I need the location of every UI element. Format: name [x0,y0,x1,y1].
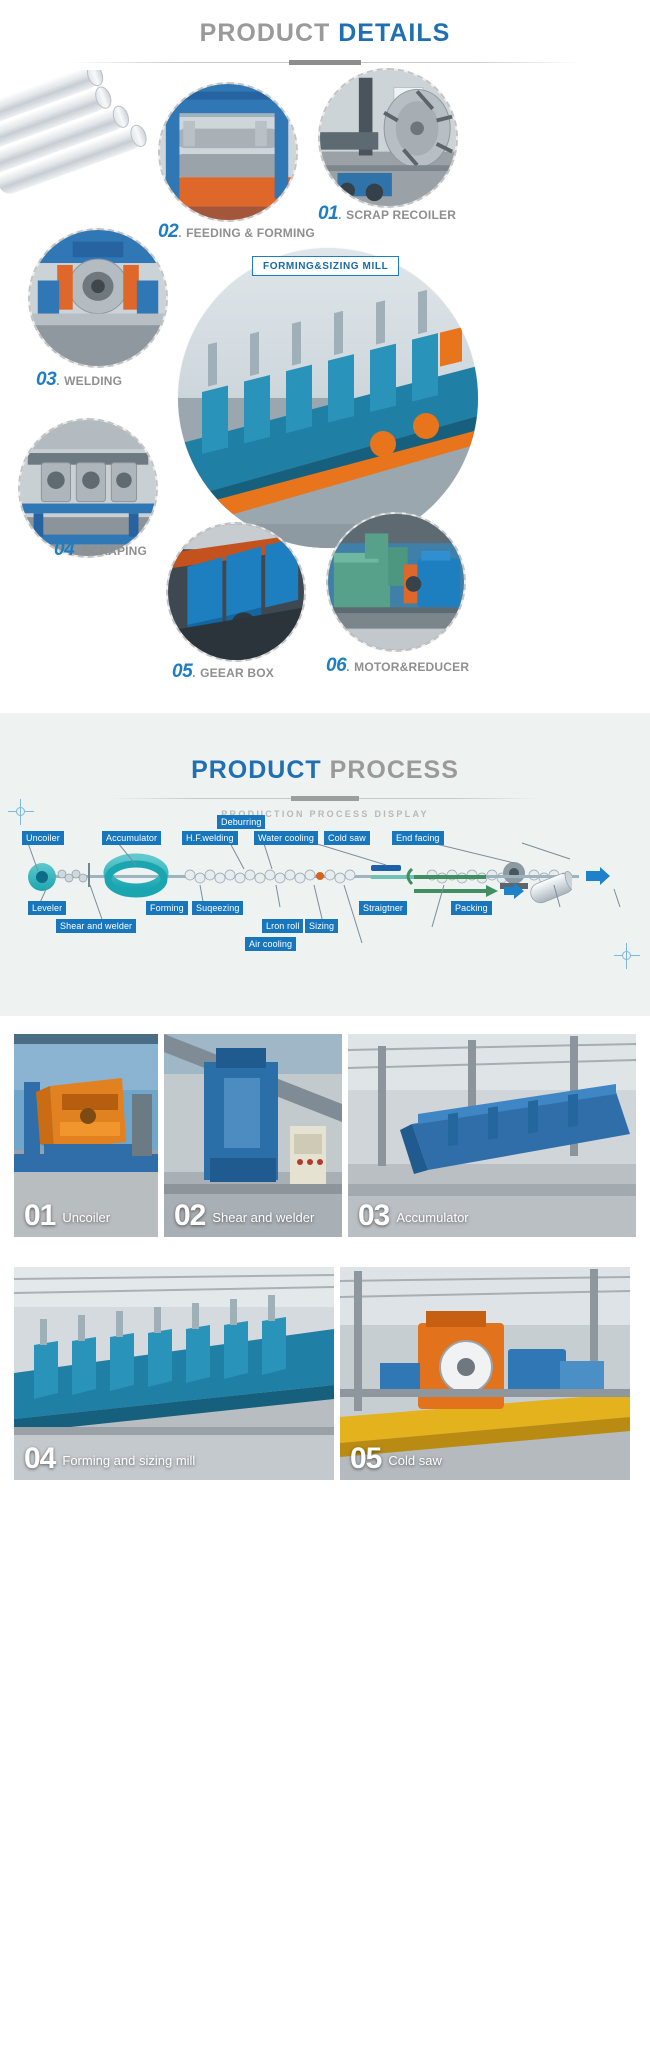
gallery-text-04: Forming and sizing mill [62,1452,195,1472]
detail-number-03: 03 [36,369,56,390]
detail-label-06: 06. MOTOR&REDUCER [326,656,469,675]
detail-number-01: 01 [318,203,338,224]
detail-dot-03: . [56,374,60,388]
flow-tag-accumulator[interactable]: Accumulator [102,831,161,845]
page-title: PRODUCT DETAILS [0,16,650,50]
process-title-word-product: PRODUCT [191,756,322,784]
detail-photo-06-motor-reducer[interactable] [326,512,466,652]
flow-tag-suqeezing[interactable]: Suqeezing [192,901,243,915]
title-word-product: PRODUCT [200,19,331,47]
flow-tag-forming[interactable]: Forming [146,901,188,915]
gallery-text-03: Accumulator [396,1209,468,1229]
detail-photo-03-welding[interactable] [28,228,168,368]
detail-photo-05-gear-box[interactable] [166,522,306,662]
detail-dot-01: . [338,208,342,222]
gallery-number-02: 02 [174,1203,205,1229]
flow-tag-lron-roll[interactable]: Lron roll [262,919,303,933]
flow-tag-straigtner[interactable]: Straigtner [359,901,407,915]
product-details-section: PRODUCT DETAILS [0,0,650,713]
gallery-caption-02: 02 Shear and welder [174,1203,314,1229]
detail-text-03: WELDING [64,374,122,388]
product-process-section: PRODUCT PROCESS PRODUCTION PROCESS DISPL… [0,713,650,1016]
flow-tag-shear-and-welder[interactable]: Shear and welder [56,919,136,933]
process-subtitle: PRODUCTION PROCESS DISPLAY [14,809,636,819]
flow-tag-air-cooling[interactable]: Air cooling [245,937,296,951]
flow-leader-lines [14,829,636,979]
gallery-card-04-forming-sizing-mill[interactable]: 04 Forming and sizing mill [14,1267,334,1480]
detail-photo-04-scraping[interactable] [18,418,158,558]
detail-dot-04: . [74,544,78,558]
title-divider [70,62,580,63]
gallery-caption-05: 05 Cold saw [350,1446,442,1472]
gallery-text-01: Uncoiler [62,1209,110,1229]
flow-tag-leveler[interactable]: Leveler [28,901,66,915]
gallery-row-1: 01 Uncoiler 02 [0,1016,650,1255]
detail-label-04: 04. SCRAPING [54,540,147,559]
detail-text-05: GEEAR BOX [200,666,274,680]
flow-tag-cold-saw[interactable]: Cold saw [324,831,370,845]
gallery-card-03-accumulator[interactable]: 03 Accumulator [348,1034,636,1237]
detail-text-06: MOTOR&REDUCER [354,660,469,674]
detail-number-02: 02 [158,221,178,242]
detail-text-01: SCRAP RECOILER [346,208,456,222]
flow-tag-sizing[interactable]: Sizing [305,919,338,933]
process-header: PRODUCT PROCESS PRODUCTION PROCESS DISPL… [14,725,636,819]
detail-photo-02-feeding-forming[interactable] [158,82,298,222]
detail-label-01: 01. SCRAP RECOILER [318,204,456,223]
detail-dot-02: . [178,226,182,240]
flow-tag-hf-welding[interactable]: H.F.welding [182,831,238,845]
detail-text-02: FEEDING & FORMING [186,226,315,240]
title-word-details: DETAILS [338,19,450,47]
flow-tag-end-facing[interactable]: End facing [392,831,444,845]
gallery-text-05: Cold saw [388,1452,441,1472]
flow-tag-uncoiler[interactable]: Uncoiler [22,831,64,845]
gallery-number-01: 01 [24,1203,55,1229]
process-title-word-process: PROCESS [330,756,459,784]
crosshair-marker-left-icon [8,799,34,825]
gallery-caption-03: 03 Accumulator [358,1203,469,1229]
process-flow-diagram: Uncoiler Accumulator H.F.welding Deburri… [14,829,650,979]
gallery-row-2: 04 Forming and sizing mill [0,1255,650,1504]
hero-badge-forming-sizing-mill: FORMING&SIZING MILL [252,256,399,276]
detail-number-05: 05 [172,661,192,682]
detail-label-03: 03. WELDING [36,370,122,389]
process-title-divider [110,798,540,799]
detail-text-04: SCRAPING [82,544,147,558]
gallery-card-05-cold-saw[interactable]: 05 Cold saw [340,1267,630,1480]
gallery-number-03: 03 [358,1203,389,1229]
product-details-header: PRODUCT DETAILS [0,0,650,63]
detail-number-06: 06 [326,655,346,676]
detail-dot-05: . [192,666,196,680]
process-title: PRODUCT PROCESS [14,753,636,787]
page-root: PRODUCT DETAILS [0,0,650,1504]
flow-tag-deburring[interactable]: Deburring [217,815,265,829]
detail-number-04: 04 [54,539,74,560]
detail-label-02: 02. FEEDING & FORMING [158,222,315,241]
gallery-number-04: 04 [24,1446,55,1472]
detail-label-05: 05. GEEAR BOX [172,662,274,681]
detail-photo-01-scrap-recoiler[interactable] [318,68,458,208]
steel-pipes-decoration [0,70,154,195]
process-panel: PRODUCT PROCESS PRODUCTION PROCESS DISPL… [14,725,636,1004]
detail-dot-06: . [346,660,350,674]
hero-forming-sizing-mill-photo [178,248,478,548]
gallery-caption-01: 01 Uncoiler [24,1203,110,1229]
gallery-caption-04: 04 Forming and sizing mill [24,1446,195,1472]
gallery-number-05: 05 [350,1446,381,1472]
flow-tag-water-cooling[interactable]: Water cooling [254,831,318,845]
gallery-text-02: Shear and welder [212,1209,314,1229]
gallery-card-02-shear-and-welder[interactable]: 02 Shear and welder [164,1034,342,1237]
gallery-card-01-uncoiler[interactable]: 01 Uncoiler [14,1034,158,1237]
flow-tag-packing[interactable]: Packing [451,901,492,915]
